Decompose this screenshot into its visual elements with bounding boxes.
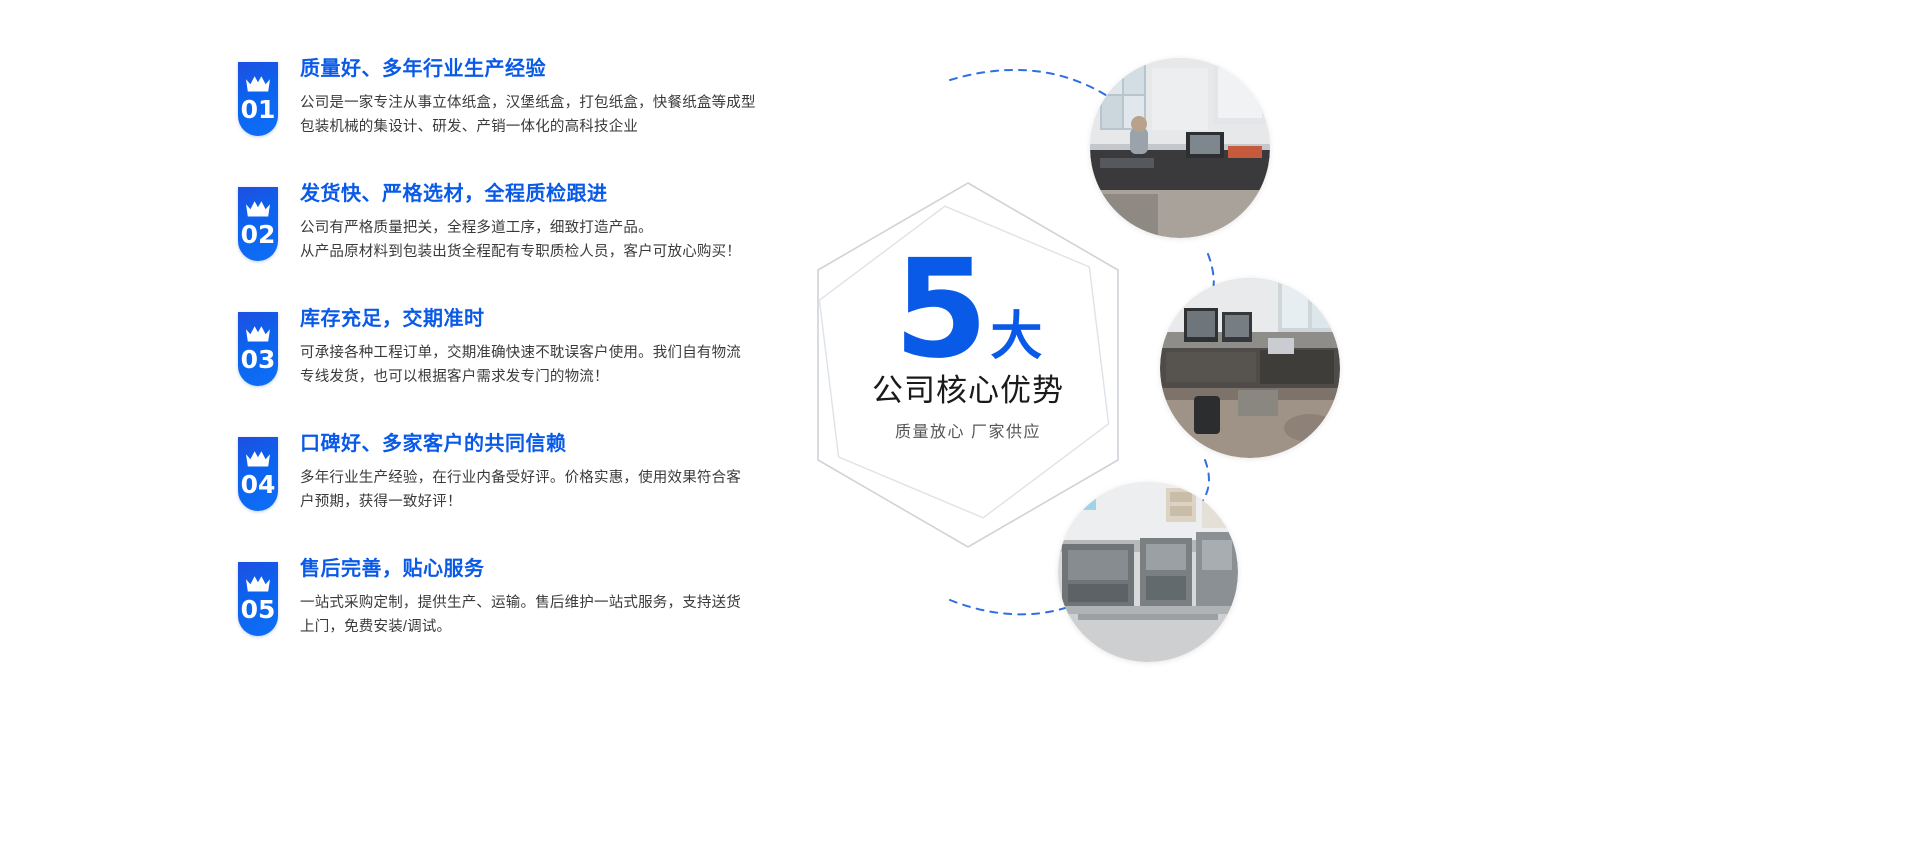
advantages-banner: 01 质量好、多年行业生产经验 公司是一家专注从事立体纸盒，汉堡纸盒，打包纸盒，… [0, 0, 1920, 847]
rank-badge-2: 02 [238, 187, 278, 261]
advantage-description-line: 专线发货，也可以根据客户需求发专门的物流！ [300, 365, 770, 389]
advantage-description-line: 可承接各种工程订单，交期准确快速不耽误客户使用。我们自有物流 [300, 341, 770, 365]
advantage-description: 公司有严格质量把关，全程多道工序，细致打造产品。 从产品原材料到包装出货全程配有… [300, 216, 770, 264]
advantage-description-line: 上门，免费安装/调试。 [300, 615, 770, 639]
advantage-description-line: 从产品原材料到包装出货全程配有专职质检人员，客户可放心购买！ [300, 240, 770, 264]
advantage-description: 多年行业生产经验，在行业内备受好评。价格实惠，使用效果符合客 户预期，获得一致好… [300, 466, 770, 514]
rank-badge-5: 05 [238, 562, 278, 636]
advantage-description-line: 公司是一家专注从事立体纸盒，汉堡纸盒，打包纸盒，快餐纸盒等成型 [300, 91, 770, 115]
core-advantages-graphic: 5大 公司核心优势 质量放心 厂家供应 [760, 30, 1920, 820]
advantage-description: 公司是一家专注从事立体纸盒，汉堡纸盒，打包纸盒，快餐纸盒等成型 包装机械的集设计… [300, 91, 770, 139]
advantage-description-line: 一站式采购定制，提供生产、运输。售后维护一站式服务，支持送货 [300, 591, 770, 615]
crown-icon [245, 450, 271, 468]
crown-icon [245, 200, 271, 218]
advantage-description-line: 包装机械的集设计、研发、产销一体化的高科技企业 [300, 115, 770, 139]
advantage-description-line: 公司有严格质量把关，全程多道工序，细致打造产品。 [300, 216, 770, 240]
rank-number: 03 [238, 346, 278, 374]
crown-icon [245, 75, 271, 93]
office-workstation-photo[interactable] [1090, 58, 1270, 238]
rank-number: 01 [238, 96, 278, 124]
rank-badge-4: 04 [238, 437, 278, 511]
rank-number: 04 [238, 471, 278, 499]
production-machine-photo[interactable] [1058, 482, 1238, 662]
rank-badge-1: 01 [238, 62, 278, 136]
office-desks-photo[interactable] [1160, 278, 1340, 458]
advantage-description: 可承接各种工程订单，交期准确快速不耽误客户使用。我们自有物流 专线发货，也可以根… [300, 341, 770, 389]
advantage-description: 一站式采购定制，提供生产、运输。售后维护一站式服务，支持送货 上门，免费安装/调… [300, 591, 770, 639]
advantage-description-line: 多年行业生产经验，在行业内备受好评。价格实惠，使用效果符合客 [300, 466, 770, 490]
rank-badge-3: 03 [238, 312, 278, 386]
rank-number: 05 [238, 596, 278, 624]
crown-icon [245, 325, 271, 343]
advantage-description-line: 户预期，获得一致好评！ [300, 490, 770, 514]
rank-number: 02 [238, 221, 278, 249]
crown-icon [245, 575, 271, 593]
